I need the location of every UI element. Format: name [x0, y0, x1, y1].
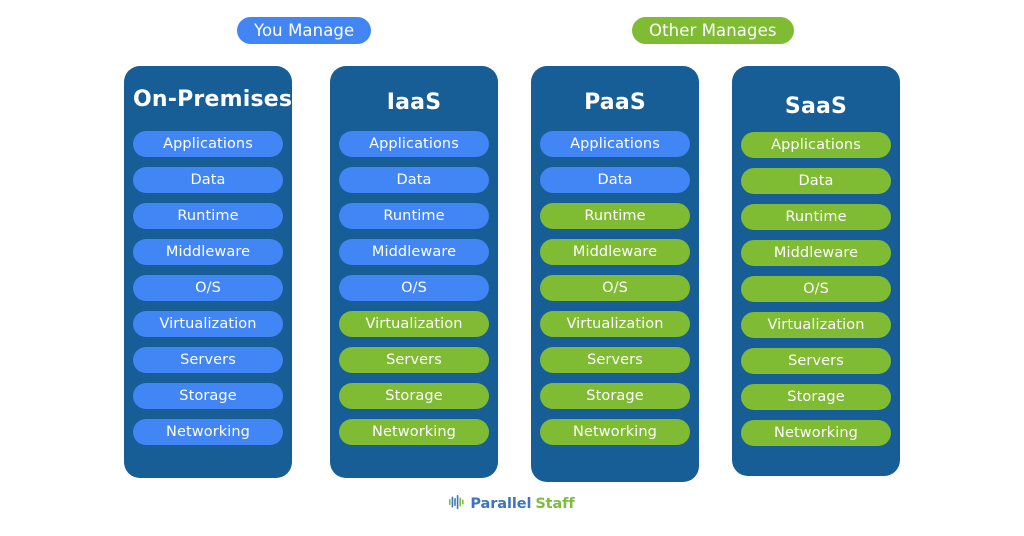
column-title: PaaS	[540, 90, 690, 115]
layer-pill-os: O/S	[741, 276, 891, 302]
layer-pill-data: Data	[339, 167, 489, 193]
column-layer-list: Applications Data Runtime Middleware O/S…	[741, 132, 891, 446]
layer-pill-networking: Networking	[540, 419, 690, 445]
layer-pill-networking: Networking	[741, 420, 891, 446]
legend-badge-other-manages: Other Manages	[632, 17, 794, 44]
column-paas: PaaS Applications Data Runtime Middlewar…	[531, 66, 699, 482]
layer-pill-servers: Servers	[540, 347, 690, 373]
column-iaas: IaaS Applications Data Runtime Middlewar…	[330, 66, 498, 478]
layer-pill-virtualization: Virtualization	[133, 311, 283, 337]
column-title: IaaS	[339, 90, 489, 115]
column-layer-list: Applications Data Runtime Middleware O/S…	[540, 131, 690, 445]
column-title: On-Premises	[133, 87, 283, 112]
layer-pill-runtime: Runtime	[133, 203, 283, 229]
layer-pill-middleware: Middleware	[133, 239, 283, 265]
legend-badge-you-manage: You Manage	[237, 17, 371, 44]
layer-pill-networking: Networking	[133, 419, 283, 445]
layer-pill-os: O/S	[339, 275, 489, 301]
legend: You Manage Other Manages	[0, 17, 1024, 45]
layer-pill-servers: Servers	[133, 347, 283, 373]
layer-pill-servers: Servers	[339, 347, 489, 373]
layer-pill-applications: Applications	[339, 131, 489, 157]
layer-pill-storage: Storage	[339, 383, 489, 409]
column-title: SaaS	[741, 94, 891, 119]
layer-pill-virtualization: Virtualization	[339, 311, 489, 337]
brand-name-primary: Parallel	[470, 496, 531, 512]
layer-pill-data: Data	[133, 167, 283, 193]
layer-pill-data: Data	[540, 167, 690, 193]
column-on-premises: On-Premises Applications Data Runtime Mi…	[124, 66, 292, 478]
layer-pill-servers: Servers	[741, 348, 891, 374]
layer-pill-os: O/S	[540, 275, 690, 301]
responsibility-matrix: On-Premises Applications Data Runtime Mi…	[0, 66, 1024, 486]
layer-pill-storage: Storage	[741, 384, 891, 410]
layer-pill-applications: Applications	[741, 132, 891, 158]
layer-pill-runtime: Runtime	[339, 203, 489, 229]
layer-pill-middleware: Middleware	[741, 240, 891, 266]
layer-pill-middleware: Middleware	[339, 239, 489, 265]
layer-pill-runtime: Runtime	[741, 204, 891, 230]
brand-logo: ParallelStaff	[0, 494, 1024, 513]
layer-pill-middleware: Middleware	[540, 239, 690, 265]
layer-pill-applications: Applications	[540, 131, 690, 157]
layer-pill-os: O/S	[133, 275, 283, 301]
layer-pill-storage: Storage	[133, 383, 283, 409]
column-layer-list: Applications Data Runtime Middleware O/S…	[133, 131, 283, 445]
layer-pill-storage: Storage	[540, 383, 690, 409]
layer-pill-applications: Applications	[133, 131, 283, 157]
waveform-icon	[449, 494, 466, 513]
layer-pill-runtime: Runtime	[540, 203, 690, 229]
layer-pill-data: Data	[741, 168, 891, 194]
column-layer-list: Applications Data Runtime Middleware O/S…	[339, 131, 489, 445]
brand-name-secondary: Staff	[535, 496, 574, 512]
layer-pill-networking: Networking	[339, 419, 489, 445]
column-saas: SaaS Applications Data Runtime Middlewar…	[732, 66, 900, 476]
layer-pill-virtualization: Virtualization	[741, 312, 891, 338]
layer-pill-virtualization: Virtualization	[540, 311, 690, 337]
